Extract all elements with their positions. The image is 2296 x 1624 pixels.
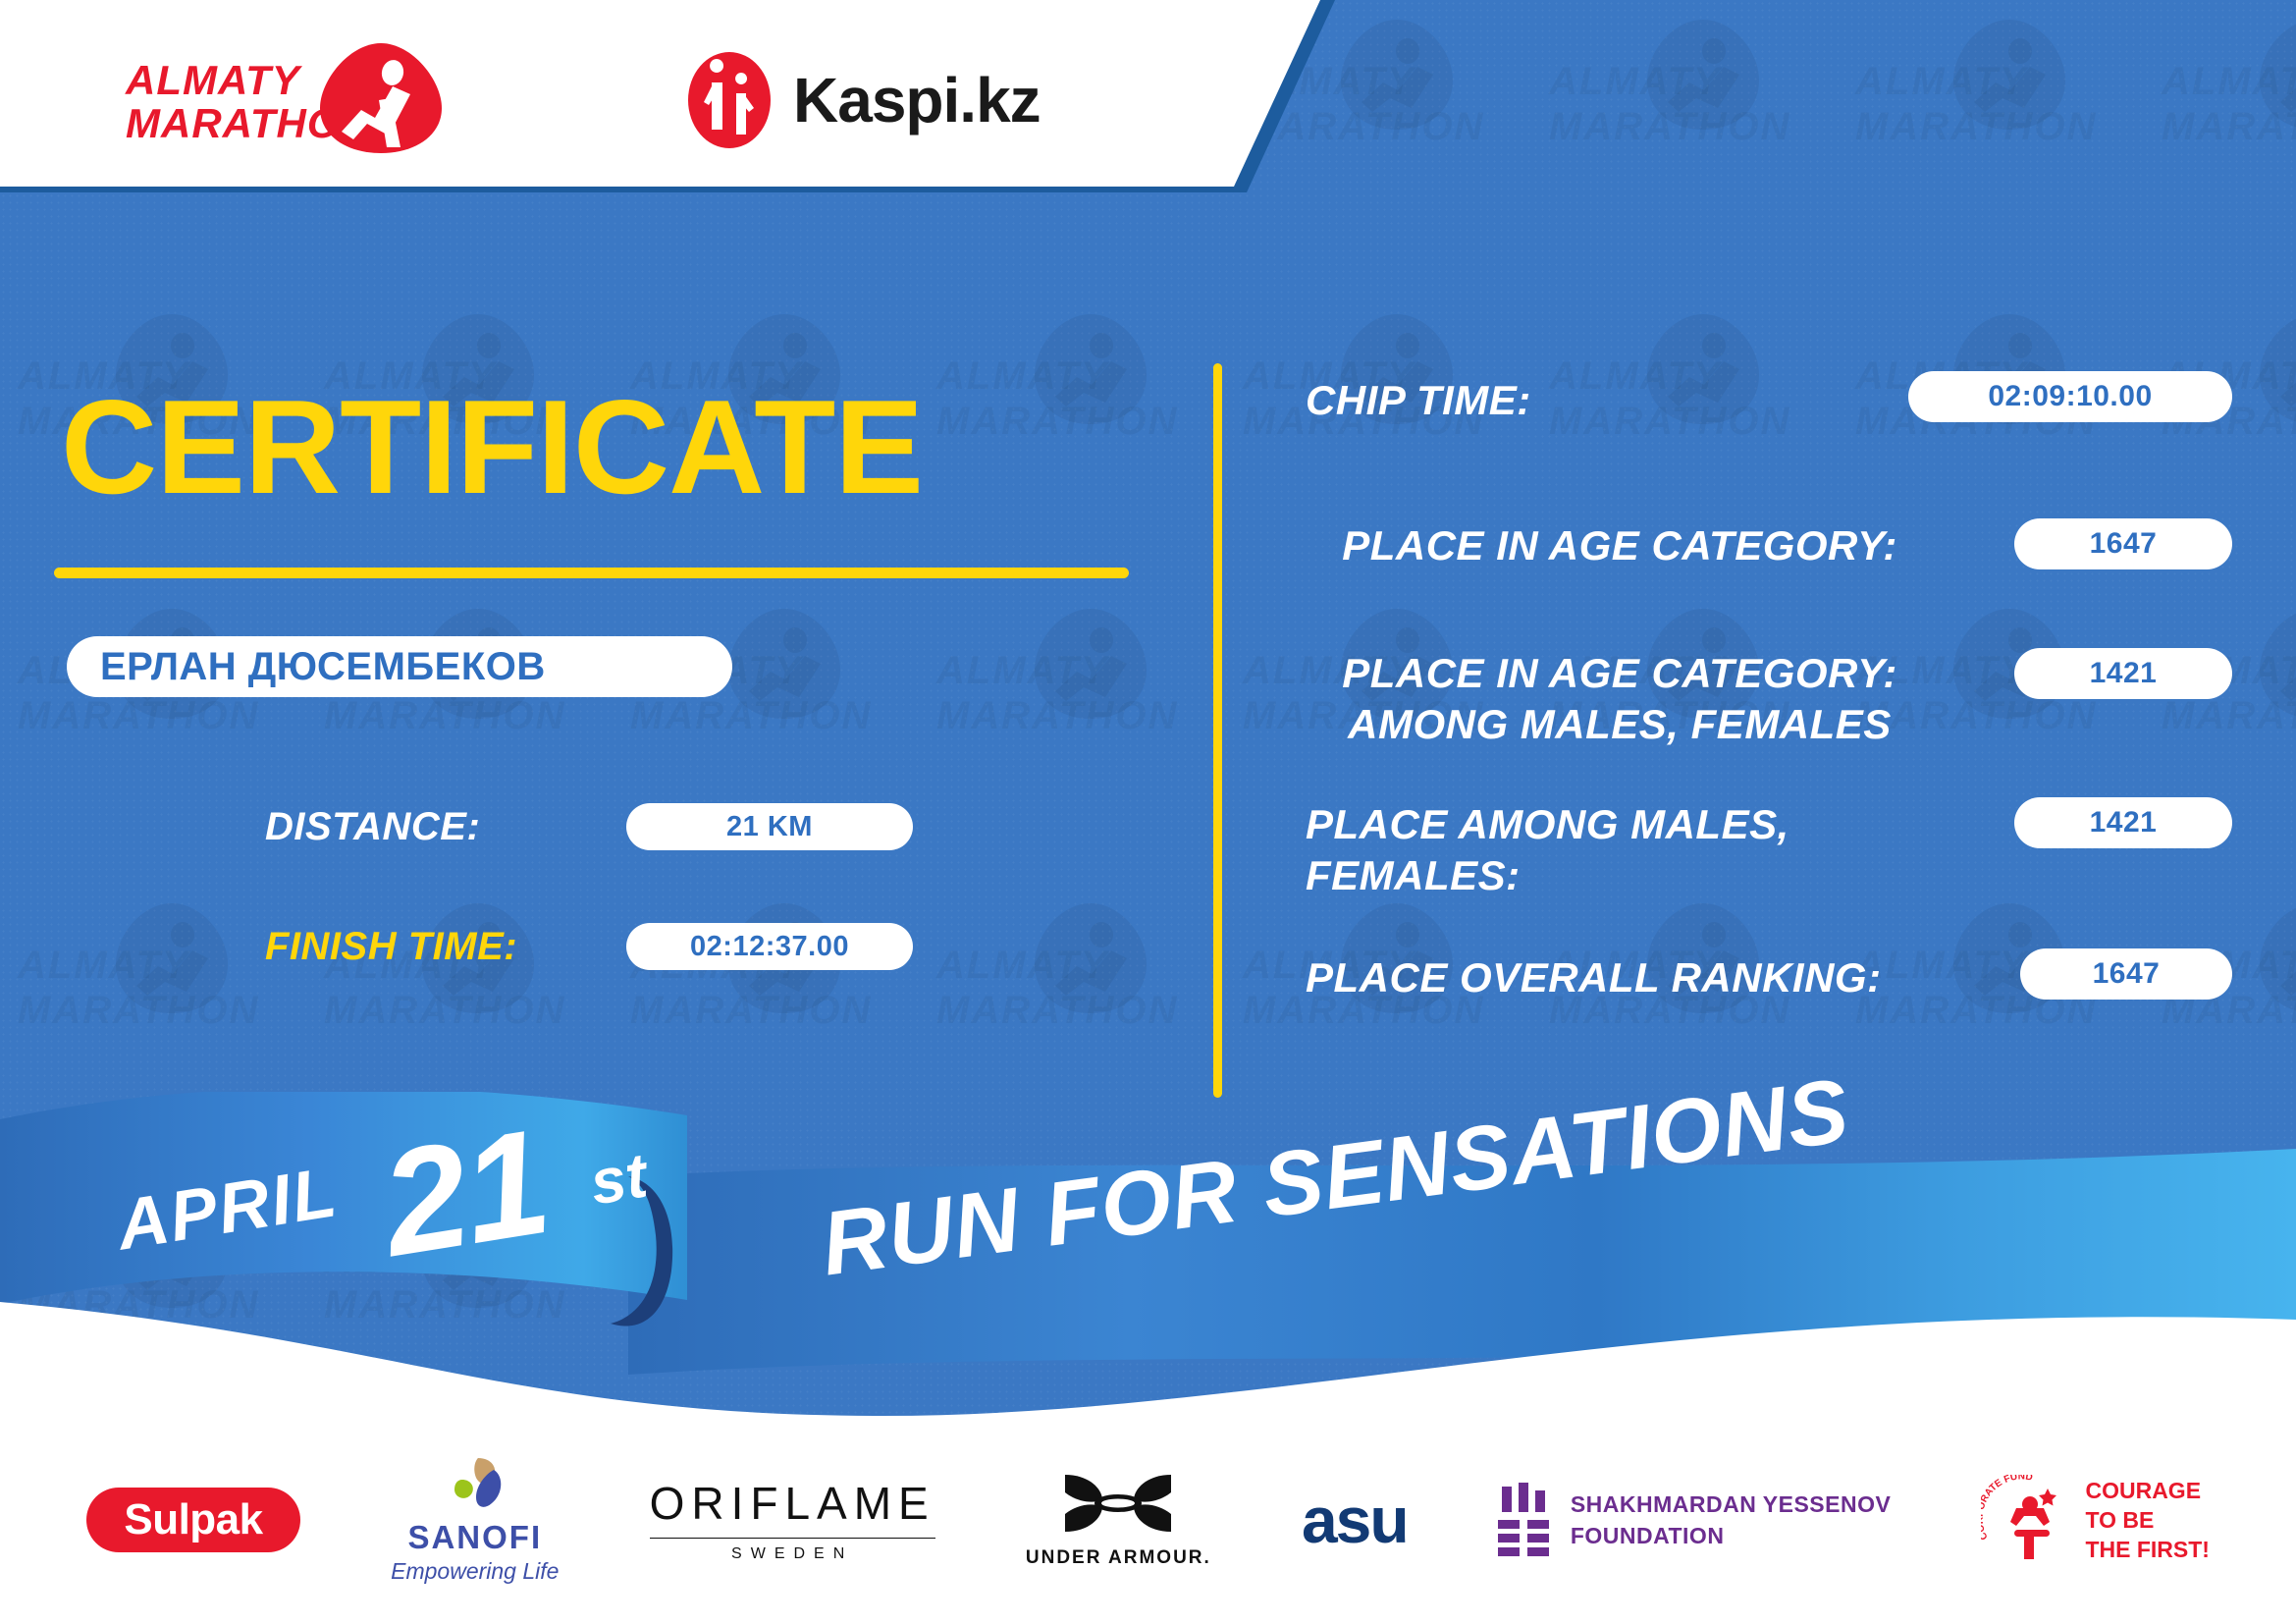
under-armour-mark-icon xyxy=(1059,1471,1177,1540)
stat-row-place-among-males-females: PLACE AMONG MALES, FEMALES: 1421 xyxy=(1276,799,2296,901)
kaspi-wordmark: Kaspi.kz xyxy=(793,64,1041,136)
page-title: CERTIFICATE xyxy=(61,383,1121,511)
yessenov-mark-icon xyxy=(1498,1483,1551,1557)
kaspi-logo: Kaspi.kz xyxy=(687,51,1041,149)
sponsor-sulpak-logo: Sulpak xyxy=(86,1488,300,1552)
stat-value: 1647 xyxy=(2014,518,2232,569)
vertical-divider xyxy=(1213,363,1222,1098)
stat-row-chip-time: CHIP TIME: 02:09:10.00 xyxy=(1276,375,2296,426)
certificate-page: ALMATY MARATHON Kaspi.kz CERTIFICATE ЕРЛ… xyxy=(0,0,2296,1624)
stat-row-place-age-category: PLACE IN AGE CATEGORY: 1647 xyxy=(1276,520,2296,571)
stat-value: 1421 xyxy=(2014,648,2232,699)
yessenov-wordmark: SHAKHMARDAN YESSENOV FOUNDATION xyxy=(1571,1489,1892,1551)
courage-line-3: THE FIRST! xyxy=(2085,1535,2210,1564)
yessenov-line-2: FOUNDATION xyxy=(1571,1520,1892,1551)
courage-line-1: COURAGE xyxy=(2085,1476,2210,1505)
stat-value: 1647 xyxy=(2020,948,2232,1000)
stat-row-place-age-category-among: PLACE IN AGE CATEGORY: AMONG MALES, FEMA… xyxy=(1276,648,2296,750)
sponsor-asu-logo: asu xyxy=(1302,1483,1408,1557)
distance-row: DISTANCE: 21 KM xyxy=(265,803,913,850)
sponsor-oriflame-logo: ORIFLAME SWEDEN xyxy=(650,1477,935,1563)
finish-time-label: FINISH TIME: xyxy=(265,925,626,969)
participant-name-value: ЕРЛАН ДЮСЕМБЕКОВ xyxy=(100,645,546,689)
courage-fund-wordmark: COURAGE TO BE THE FIRST! xyxy=(2085,1476,2210,1564)
stat-label: PLACE IN AGE CATEGORY: xyxy=(1276,520,1963,571)
sponsors-footer: Sulpak SANOFI Empowering Life ORIFLAME S… xyxy=(0,1416,2296,1624)
stat-label: CHIP TIME: xyxy=(1276,375,1963,426)
distance-label: DISTANCE: xyxy=(265,805,626,849)
stat-label: PLACE OVERALL RANKING: xyxy=(1276,952,1963,1003)
sponsor-yessenov-foundation-logo: SHAKHMARDAN YESSENOV FOUNDATION xyxy=(1498,1483,1892,1557)
finish-time-row: FINISH TIME: 02:12:37.00 xyxy=(265,923,913,970)
courage-fund-mark-icon: CORPORATE FUND xyxy=(1981,1475,2071,1565)
runner-drop-icon xyxy=(318,41,444,155)
stat-label: PLACE AMONG MALES, FEMALES: xyxy=(1276,799,1963,901)
sanofi-mark-icon xyxy=(443,1456,507,1517)
yessenov-line-1: SHAKHMARDAN YESSENOV xyxy=(1571,1489,1892,1520)
kaspi-mark-icon xyxy=(687,51,772,149)
sponsor-sanofi-logo: SANOFI Empowering Life xyxy=(391,1456,559,1585)
sanofi-tagline: Empowering Life xyxy=(391,1558,559,1585)
participant-name-field: ЕРЛАН ДЮСЕМБЕКОВ xyxy=(67,636,732,697)
stat-row-place-overall-ranking: PLACE OVERALL RANKING: 1647 xyxy=(1276,952,2296,1003)
finish-time-value: 02:12:37.00 xyxy=(626,923,913,970)
sanofi-wordmark: SANOFI xyxy=(407,1519,542,1556)
oriflame-sub-label: SWEDEN xyxy=(650,1538,935,1563)
ribbon-day-suffix: st xyxy=(585,1139,652,1219)
event-ribbon xyxy=(0,1092,2296,1435)
stat-value: 1421 xyxy=(2014,797,2232,848)
oriflame-wordmark: ORIFLAME xyxy=(650,1477,935,1530)
distance-value: 21 KM xyxy=(626,803,913,850)
title-underline-rule xyxy=(54,568,1129,578)
sponsor-under-armour-logo: UNDER ARMOUR. xyxy=(1026,1471,1211,1569)
stat-label: PLACE IN AGE CATEGORY: AMONG MALES, FEMA… xyxy=(1276,648,1963,750)
under-armour-wordmark: UNDER ARMOUR. xyxy=(1026,1547,1211,1569)
almaty-marathon-logo: ALMATY MARATHON xyxy=(126,41,440,155)
ribbon-day-number: 21 xyxy=(373,1107,557,1279)
sponsor-courage-fund-logo: CORPORATE FUND COURAGE TO BE THE FIRST! xyxy=(1981,1475,2210,1565)
stat-value: 02:09:10.00 xyxy=(1908,371,2232,422)
asu-wordmark: asu xyxy=(1302,1483,1408,1557)
courage-line-2: TO BE xyxy=(2085,1505,2210,1535)
